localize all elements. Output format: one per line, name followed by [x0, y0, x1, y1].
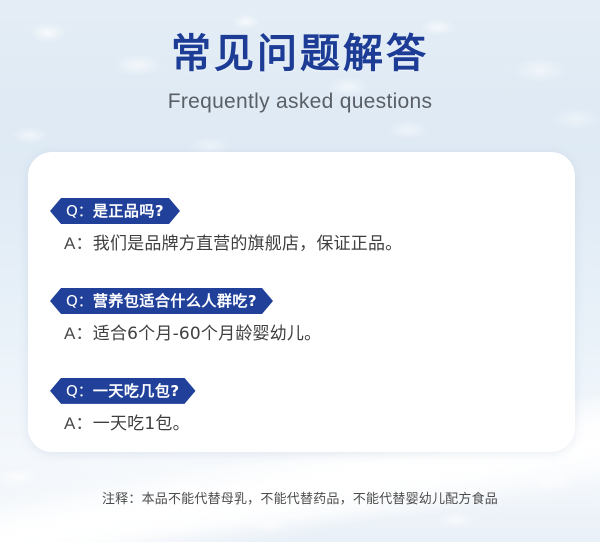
disclaimer-note: 注释：本品不能代替母乳，不能代替药品，不能代替婴幼儿配方食品 — [0, 488, 600, 507]
faq-item: Q：是正品吗? A：我们是品牌方直营的旗舰店，保证正品。 — [38, 198, 565, 256]
question-prefix: Q： — [66, 202, 93, 220]
faq-card: Q：是正品吗? A：我们是品牌方直营的旗舰店，保证正品。 Q：营养包适合什么人群… — [28, 152, 575, 452]
faq-item: Q：营养包适合什么人群吃? A：适合6个月-60个月龄婴幼儿。 — [38, 288, 565, 346]
faq-list: Q：是正品吗? A：我们是品牌方直营的旗舰店，保证正品。 Q：营养包适合什么人群… — [38, 198, 565, 436]
faq-item: Q：一天吃几包? A：一天吃1包。 — [38, 378, 565, 436]
question-text: 一天吃几包? — [93, 382, 180, 400]
question-prefix: Q： — [66, 382, 93, 400]
question-text: 是正品吗? — [93, 202, 164, 220]
question-badge[interactable]: Q：营养包适合什么人群吃? — [50, 288, 273, 314]
page-title: 常见问题解答 — [0, 32, 600, 76]
faq-page: 常见问题解答 Frequently asked questions Q：是正品吗… — [0, 0, 600, 542]
page-header: 常见问题解答 Frequently asked questions — [0, 32, 600, 113]
answer-line: A：我们是品牌方直营的旗舰店，保证正品。 — [64, 233, 565, 256]
answer-line: A：一天吃1包。 — [64, 413, 565, 436]
question-prefix: Q： — [66, 292, 93, 310]
question-badge[interactable]: Q：是正品吗? — [50, 198, 180, 224]
answer-text: 我们是品牌方直营的旗舰店，保证正品。 — [93, 234, 403, 254]
question-text: 营养包适合什么人群吃? — [93, 292, 257, 310]
page-subtitle: Frequently asked questions — [0, 90, 600, 113]
answer-prefix: A： — [64, 414, 93, 433]
answer-line: A：适合6个月-60个月龄婴幼儿。 — [64, 323, 565, 346]
question-badge[interactable]: Q：一天吃几包? — [50, 378, 196, 404]
answer-prefix: A： — [64, 324, 93, 343]
answer-text: 一天吃1包。 — [93, 414, 190, 434]
answer-text: 适合6个月-60个月龄婴幼儿。 — [93, 324, 322, 344]
answer-prefix: A： — [64, 234, 93, 253]
